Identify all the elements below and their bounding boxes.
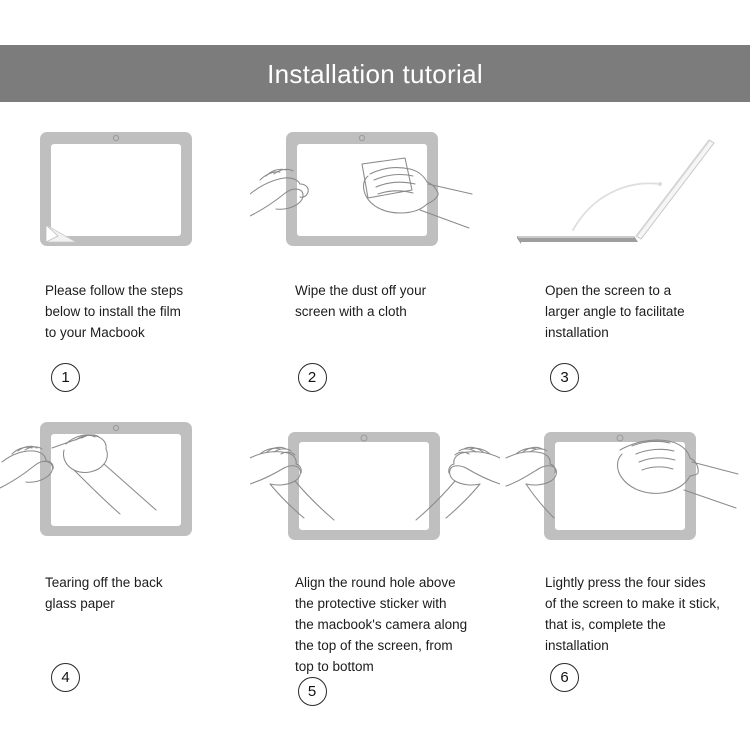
caption-line: Lightly press the four sides [545,572,720,593]
illustration-hand-pressing-film-edges [500,410,750,560]
step-number-6: 6 [550,663,579,692]
steps-row-top: Please follow the steps below to install… [0,118,750,410]
step-caption-6: Lightly press the four sides of the scre… [500,572,750,656]
step-number-wrap-3: 3 [450,363,750,392]
step-number-2: 2 [298,363,327,392]
step-number-3: 3 [550,363,579,392]
illustration-laptop-side-profile-open-angle [500,118,750,268]
step-cell-3: Open the screen to a larger angle to fac… [500,118,750,410]
caption-line: larger angle to facilitate [545,301,720,322]
caption-line: of the screen to make it stick, [545,593,720,614]
step-cell-4: Tearing off the back glass paper 4 [0,410,250,710]
caption-line: top to bottom [295,656,470,677]
step-number-1: 1 [51,363,80,392]
step-number-5: 5 [298,677,327,706]
caption-line: the protective sticker with [295,593,470,614]
caption-line: the macbook's camera along [295,614,470,635]
page-title: Installation tutorial [267,61,483,87]
illustration-two-hands-aligning-film-on-screen [250,410,500,560]
caption-line: Please follow the steps [45,280,220,301]
caption-line: installation [545,322,720,343]
step-number-wrap-6: 6 [450,663,750,692]
header-banner: Installation tutorial [0,45,750,102]
caption-line: to your Macbook [45,322,220,343]
illustration-tablet-with-peeling-film-corner [0,118,250,268]
step-number-4: 4 [51,663,80,692]
caption-line: below to install the film [45,301,220,322]
caption-line: Align the round hole above [295,572,470,593]
steps-grid: Please follow the steps below to install… [0,118,750,710]
caption-line: Tearing off the back [45,572,220,593]
caption-line: Wipe the dust off your [295,280,470,301]
caption-line: Open the screen to a [545,280,720,301]
step-caption-2: Wipe the dust off your screen with a clo… [250,280,500,322]
step-caption-5: Align the round hole above the protectiv… [250,572,500,677]
caption-line: screen with a cloth [295,301,470,322]
step-caption-1: Please follow the steps below to install… [0,280,250,343]
caption-line: the top of the screen, from [295,635,470,656]
caption-line: glass paper [45,593,220,614]
caption-line: that is, complete the installation [545,614,720,656]
step-caption-3: Open the screen to a larger angle to fac… [500,280,750,343]
step-cell-6: Lightly press the four sides of the scre… [500,410,750,710]
illustration-hands-tearing-back-paper [0,410,250,560]
illustration-hand-wiping-screen-with-cloth [250,118,500,268]
steps-row-bottom: Tearing off the back glass paper 4 [0,410,750,710]
step-caption-4: Tearing off the back glass paper [0,572,250,614]
